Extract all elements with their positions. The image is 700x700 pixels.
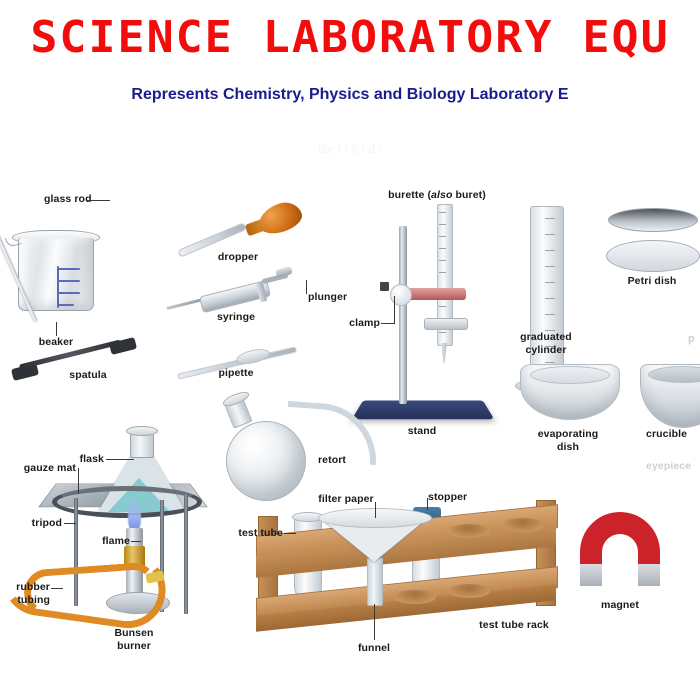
evaporating-dish-inner (530, 366, 610, 384)
label-graduated-cylinder-line1: graduated (520, 332, 572, 343)
label-clamp: clamp (349, 318, 380, 329)
label-burette: burette (also buret) (388, 190, 486, 201)
clamp-bolt (380, 282, 389, 291)
label-filter-paper: filter paper (318, 494, 373, 505)
rack-hole (448, 524, 490, 538)
spatula-end-right (109, 337, 137, 355)
cylinder-graduation (545, 234, 555, 235)
laboratory-equipment-poster: SCIENCE LABORATORY EQU Represents Chemis… (0, 0, 700, 700)
label-stand: stand (408, 426, 437, 437)
leader-beaker (56, 322, 57, 336)
cylinder-graduation (545, 298, 555, 299)
burette-graduation (439, 306, 446, 307)
burette-tip (441, 343, 447, 363)
leader-funnel (374, 604, 375, 640)
flask-rim (126, 426, 158, 436)
label-spatula: spatula (69, 370, 106, 381)
beaker-graduation (58, 304, 74, 306)
leader-filter-paper (375, 502, 376, 518)
leader-clamp-vert (394, 296, 395, 324)
label-graduated-cylinder-line2: cylinder (525, 345, 566, 356)
label-test-tube-rack: test tube rack (479, 620, 549, 631)
leader-tripod (64, 523, 76, 524)
label-magnet: magnet (601, 600, 639, 611)
burette-graduation (439, 224, 446, 225)
burette-stopcock (424, 318, 468, 330)
tripod-leg (184, 494, 188, 614)
label-bunsen-line1: Bunsen (114, 628, 153, 639)
rack-hole (502, 518, 544, 532)
label-partial-right-edge: p (688, 334, 695, 345)
leader-plunger (306, 280, 307, 294)
burette-graduation (439, 236, 446, 237)
stand-rod (399, 226, 407, 404)
label-flame: flame (102, 536, 130, 547)
cylinder-graduation (545, 250, 555, 251)
burette-graduation (439, 260, 446, 261)
label-dropper: dropper (218, 252, 258, 263)
beaker-body (18, 238, 94, 311)
label-syringe: syringe (217, 312, 255, 323)
label-plunger: plunger (308, 292, 347, 303)
leader-glass-rod (86, 200, 110, 201)
beaker-graduation-axis (57, 266, 59, 308)
label-eyepiece: eyepiece (646, 461, 691, 472)
cylinder-graduation (545, 314, 555, 315)
label-beaker: beaker (39, 337, 73, 348)
burette-graduation (439, 332, 446, 333)
label-evaporating-dish-line2: dish (557, 442, 579, 453)
leader-flame (131, 541, 141, 542)
label-stopper: stopper (428, 492, 467, 503)
stand-base (352, 400, 494, 419)
burette-graduation (439, 212, 446, 213)
dropper-bulb (255, 198, 305, 238)
rack-hole-lower (394, 590, 436, 604)
page-subtitle: Represents Chemistry, Physics and Biolog… (0, 86, 700, 104)
label-test-tube: test tube (238, 528, 283, 539)
label-funnel: funnel (358, 643, 390, 654)
cylinder-graduation (545, 362, 555, 363)
beaker-graduation (58, 292, 80, 294)
magnet-pole-right (638, 564, 660, 586)
funnel-stem (367, 558, 383, 606)
magnet-pole-left (580, 564, 602, 586)
label-pipette: pipette (218, 368, 253, 379)
leader-test-tube (284, 533, 296, 534)
label-crucible: crucible (646, 429, 687, 440)
leader-stopper (427, 498, 428, 510)
rack-hole-lower (448, 584, 490, 598)
cylinder-graduation (545, 218, 555, 219)
bunsen-flame (128, 498, 141, 532)
label-flask: flask (80, 454, 104, 465)
pipette-bulb (235, 346, 271, 366)
label-glass-rod: glass rod (44, 194, 92, 205)
label-petri-dish: Petri dish (628, 276, 677, 287)
label-rubber-tubing-line1: rubber (16, 582, 50, 593)
burette-graduation (439, 272, 446, 273)
label-gauze-mat: gauze mat (24, 463, 76, 474)
syringe-thumb-rest (275, 266, 292, 278)
label-bunsen-line2: burner (117, 641, 151, 652)
leader-flask (106, 459, 134, 460)
cylinder-graduation (545, 282, 555, 283)
petri-dish-lid (608, 208, 698, 232)
retort-bulb (226, 421, 306, 501)
leader-rubber-tubing (51, 588, 63, 589)
label-evaporating-dish-line1: evaporating (538, 429, 599, 440)
graduated-cylinder-tube (530, 206, 564, 384)
faint-cropped-text-row: the f t h t d t (0, 141, 700, 157)
leader-clamp (381, 323, 395, 324)
leader-gauze-mat-v (78, 468, 79, 494)
cylinder-graduation (545, 266, 555, 267)
beaker-graduation (58, 280, 80, 282)
burette-graduation (439, 248, 446, 249)
beaker-graduation (58, 268, 80, 270)
petri-dish-base (606, 240, 700, 272)
label-retort: retort (318, 455, 346, 466)
label-rubber-tubing-line2: tubing (17, 595, 50, 606)
page-title: SCIENCE LABORATORY EQU (0, 12, 700, 63)
label-tripod: tripod (32, 518, 62, 529)
